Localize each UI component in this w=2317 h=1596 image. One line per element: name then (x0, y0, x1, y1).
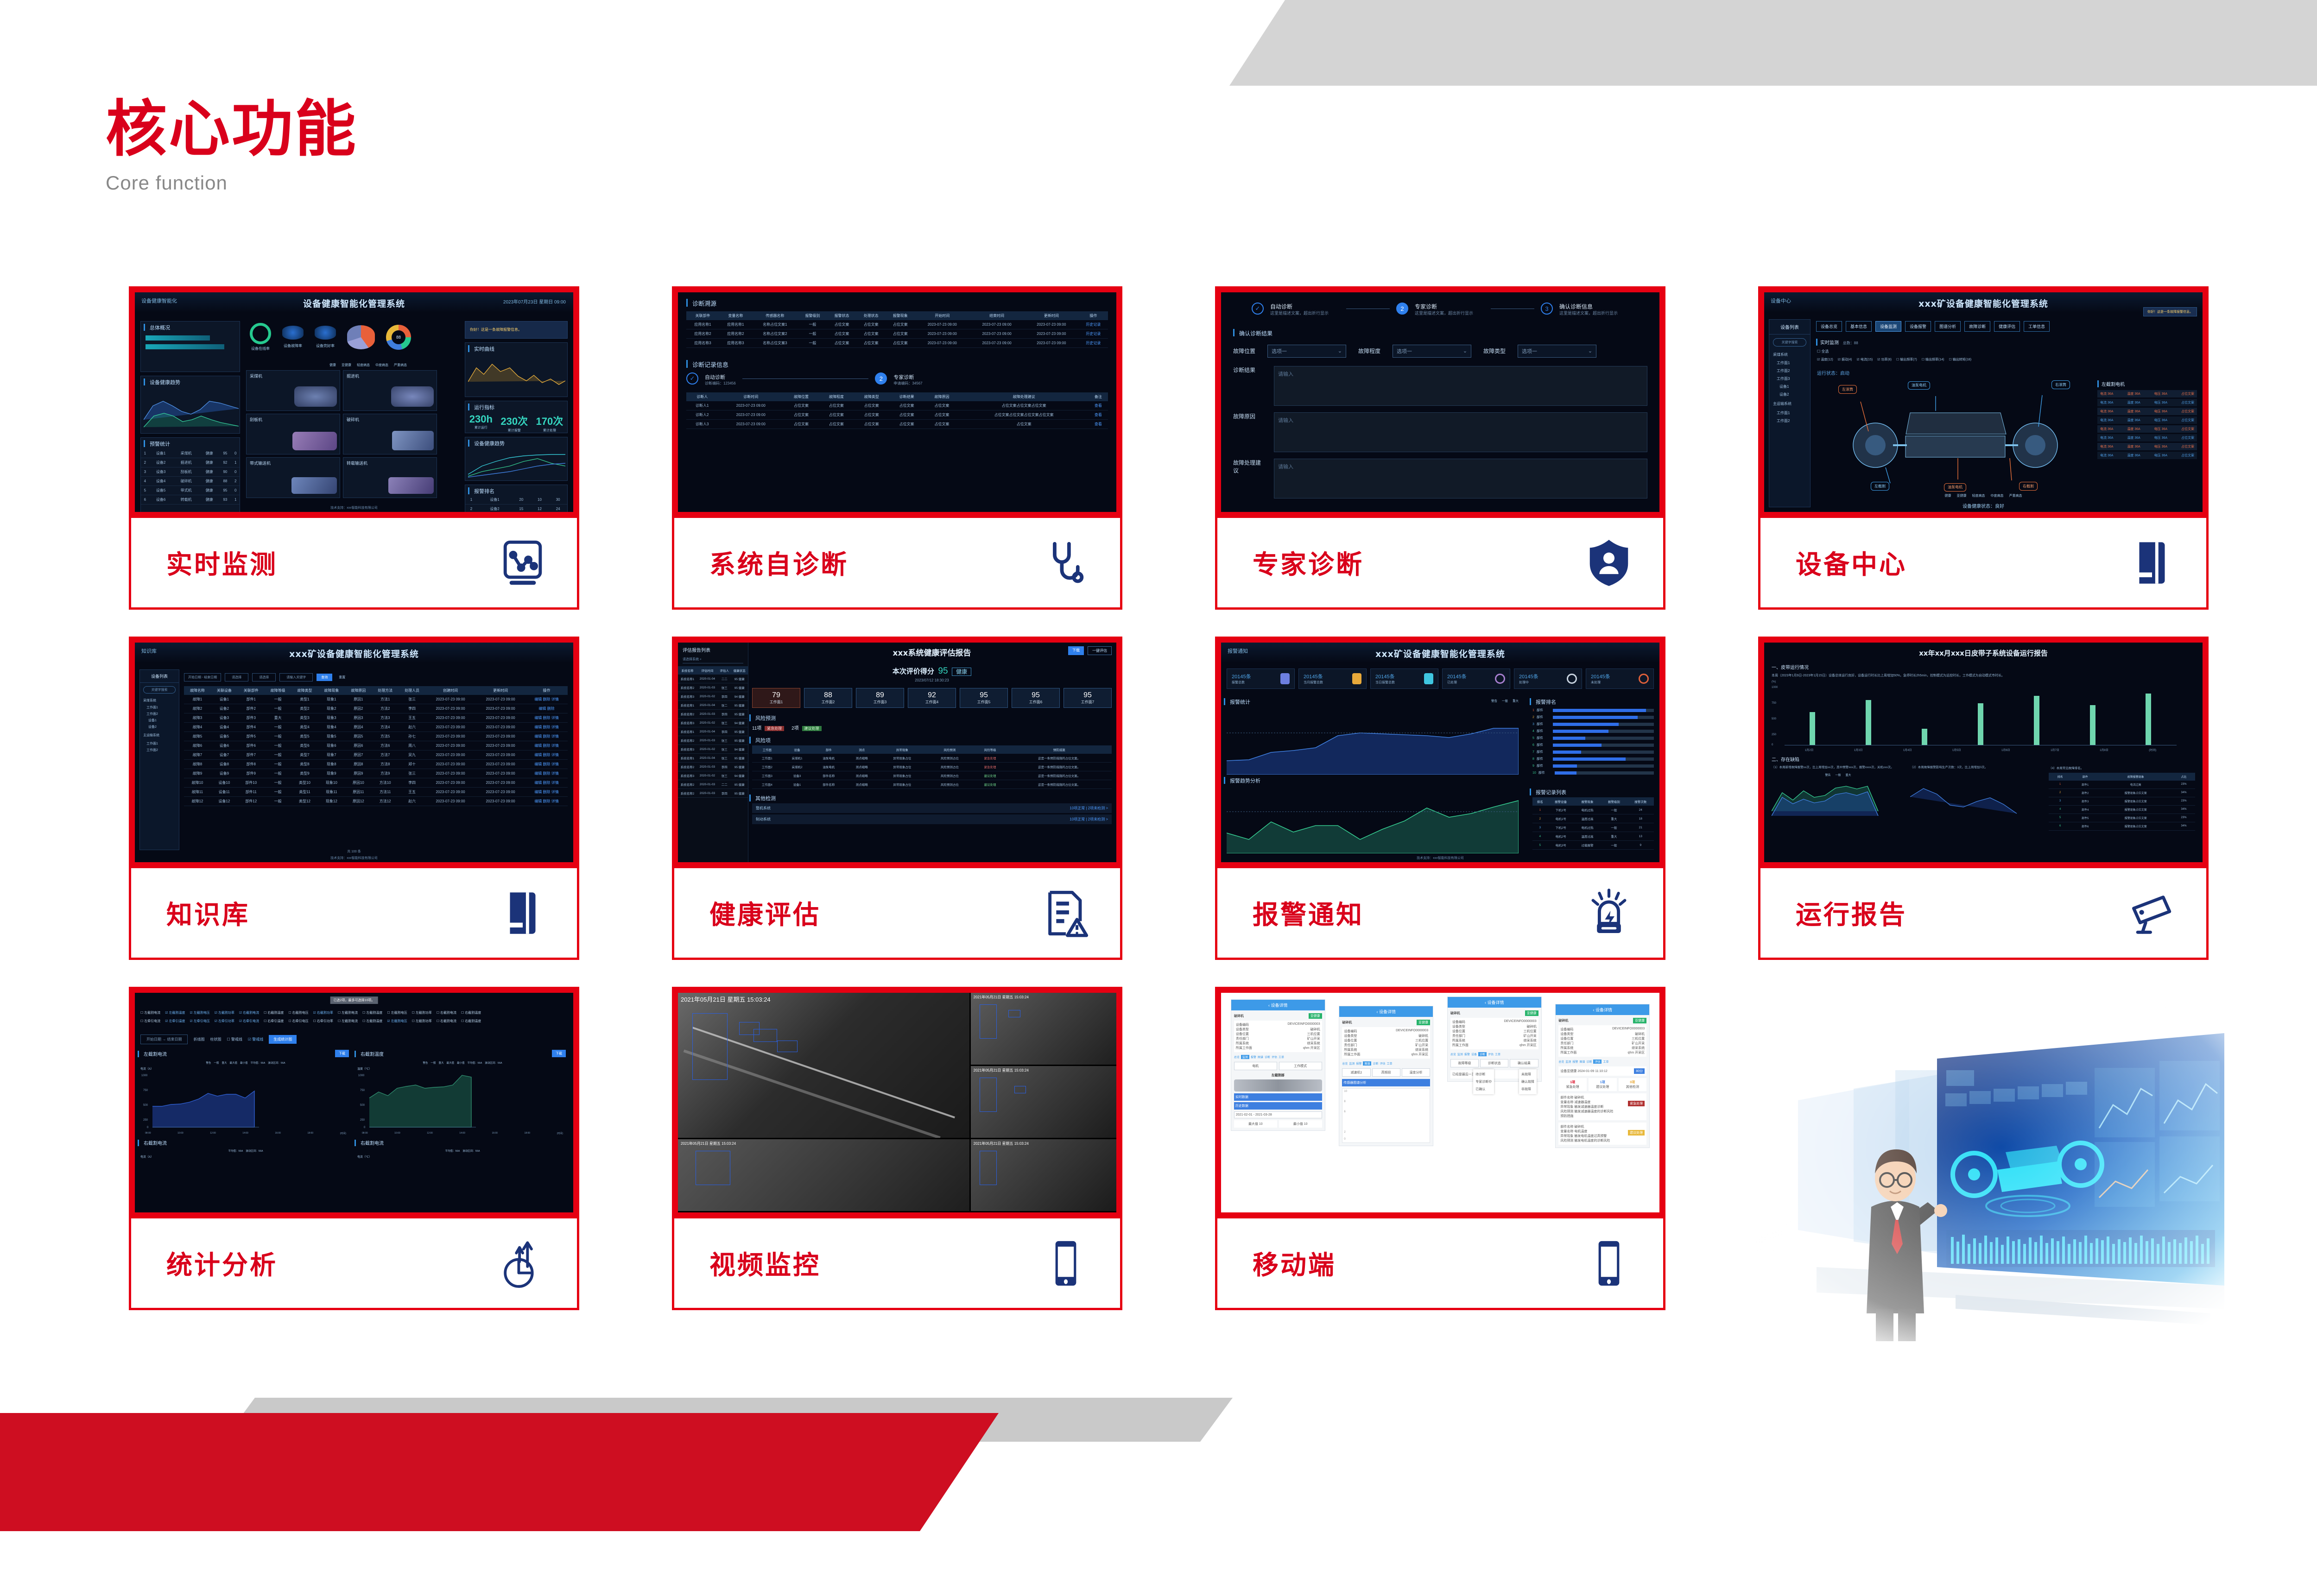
col-header: 报警状态 (827, 311, 856, 320)
view-link[interactable]: 查看 (1089, 401, 1108, 410)
list-item[interactable]: 系统名称22020-01-03张三95 健康 (678, 736, 748, 745)
view-link[interactable]: 查看 (1089, 410, 1108, 420)
table-row[interactable]: 诊断人3 2023-07-23 09:00 占位文案 占位文案 占位文案 占位文… (686, 420, 1108, 429)
metric-checkbox[interactable]: ☐ 右截割电压 (288, 1010, 308, 1015)
checkbox-label: 左牵引电压 (194, 1020, 210, 1023)
fault-type-select[interactable]: 选项一 ⌄ (1518, 345, 1596, 358)
field-value: 矿山开采 (1307, 1036, 1320, 1041)
history-link[interactable]: 历史记录 (1079, 329, 1108, 339)
field-value: 破碎机 (1418, 1034, 1428, 1038)
fault-cause-textarea[interactable]: 请输入 (1274, 412, 1647, 452)
field-value: 破碎机 (1635, 1032, 1645, 1036)
card-label-equipment-center[interactable]: 设备中心 (1758, 518, 2209, 610)
table-row[interactable]: 故障5设备5部件5一般类型5现象5原因5方法5孙七2023-07-23 09:0… (184, 732, 568, 741)
metric-checkbox[interactable]: ☐ 左截割功率 (412, 1019, 432, 1023)
checkbox-label: 左截割电流 (342, 1011, 358, 1015)
card-label-expert-diagnosis[interactable]: 专家诊断 (1215, 518, 1665, 610)
download-button[interactable]: 下载 (335, 1050, 349, 1057)
metric-checkbox[interactable]: ☑ 左截割电压 (190, 1010, 209, 1015)
placeholder-text: 请输入 (1278, 418, 1293, 423)
generate-chart-button[interactable]: 生成统计图 (269, 1035, 297, 1044)
phone-tab[interactable]: 诊断 (1586, 1060, 1592, 1064)
metric-checkbox[interactable]: ☐ 左截割功率 (412, 1010, 432, 1015)
table-row[interactable]: 诊断人1 2023-07-23 09:00 占位文案 占位文案 占位文案 占位文… (686, 401, 1108, 410)
table-row[interactable]: 故障2设备2部件2一般类型2现象2原因2方法2李四2023-07-23 09:0… (184, 704, 568, 713)
warn-line-checkbox-off[interactable]: ☐ 警戒线 (227, 1037, 242, 1042)
one-click-assess-button[interactable]: 一键评估 (1088, 646, 1112, 655)
video-cell-5[interactable]: 2021年05月21日 星期五 15:03:24 (971, 1139, 1116, 1211)
table-row[interactable]: 故障10设备10部件10一般类型10现象10原因10方法10李四2023-07-… (184, 778, 568, 788)
table-row[interactable]: 故障6设备6部件6一般类型6现象6原因6方法6周八2023-07-23 09:0… (184, 741, 568, 751)
tab-basic-info[interactable]: 基本信息 (1846, 321, 1872, 332)
menu-item[interactable]: 未故障 (1521, 1071, 1534, 1078)
chart-title: 右截割温度 (355, 1051, 568, 1057)
feature-card-mobile-terminal[interactable]: ‹ 设备详情 破碎机 亚健康 设备编码DEVICEINFO0000003 设备类… (1215, 987, 1665, 1324)
list-item[interactable]: 系统名称32020-01-02张三94 健康 (678, 745, 748, 754)
search-input[interactable]: 请选择系统 ⌕ (683, 657, 743, 663)
col-header: 备注 (1089, 392, 1108, 401)
band-select[interactable]: 高频段 (1372, 1068, 1400, 1077)
table-row[interactable]: 工作面1采煤机1油泵电机测点缩略异常现象占位风险预测占位紧急处理这是一条预防措施… (752, 754, 1112, 763)
score-value: 95 (960, 691, 1007, 700)
cell: 占位文案 (886, 339, 915, 348)
field-label: 设备类型 (1560, 1032, 1573, 1036)
feature-card-realtime-monitor[interactable]: 设备健康智能化 2023年07月23日 星期日 09:00 设备健康智能化管理系… (129, 286, 579, 624)
table-row[interactable]: 应用名称1 应用名称1 名称占位文案1 一般 占位文案 占位文案 占位文案 20… (686, 320, 1108, 329)
checkbox-label: 左截割温度 (366, 1020, 382, 1023)
list-item[interactable]: 系统名称22020-01-03李四95 健康 (678, 763, 748, 771)
pagination[interactable]: 共 100 条 (135, 849, 573, 854)
chart-type-bar[interactable]: 柱状图 (210, 1037, 221, 1042)
metric-checkbox[interactable]: ☐ 左截割温度 (362, 1010, 382, 1015)
cell: 占位文案占位文案占位文案 (959, 401, 1088, 410)
field-value: 矿山开采 (1415, 1043, 1428, 1047)
x-tick: 1月5日 (1952, 748, 1961, 752)
field-label: 设备编码 (1344, 1029, 1357, 1034)
tree-item[interactable]: 工作面1 (1769, 409, 1810, 417)
table-row[interactable]: 1部件1电流过高23% (2049, 781, 2195, 789)
metric-temperature: 温度 36A (2127, 453, 2140, 458)
cell: 诊断人1 (686, 401, 718, 410)
device-name: 破碎机 (1450, 1011, 1460, 1016)
filter-checkbox[interactable]: ☑ 温度(12) (1817, 357, 1833, 362)
card-label-health-assessment[interactable]: 健康评估 (672, 868, 1122, 960)
checkbox-label: 右截割电流 (440, 1011, 456, 1015)
tab-graph-analysis[interactable]: 图谱分析 (1935, 321, 1961, 332)
table-row[interactable]: 3部件3报警现象占位文案23% (2049, 797, 2195, 805)
select-all-checkbox[interactable]: ☐ 全选 (1817, 349, 1829, 354)
feature-card-system-self-diagnosis[interactable]: 诊断溯源 关联部件 变量名称 传感器名称 报警级别 报警状态 处理状态 报警现象… (672, 286, 1122, 624)
tree-item[interactable]: 工作面1 (1769, 359, 1810, 367)
mobile-screen-graph[interactable]: ‹ 设备详情 破碎机 亚健康 设备编码DEVICEINFO0000003 设备类… (1339, 1006, 1433, 1146)
reset-button[interactable]: 重置 (336, 674, 348, 681)
equipment-name: 破碎机 (343, 414, 437, 423)
cell: 占位文案 (856, 320, 886, 329)
metric-checkbox[interactable]: ☑ 左牵引电压 (190, 1019, 209, 1023)
table-row[interactable]: 故障1设备1部件1一般类型1现象1原因1方法1张三2023-07-23 09:0… (184, 695, 568, 704)
select-filter-1[interactable]: 请选择 (225, 673, 248, 681)
risk-tag: 紧急处理 (765, 726, 784, 731)
cell: 占位文案 (856, 339, 886, 348)
phone-tab[interactable]: 诊断 (1265, 1055, 1270, 1059)
phone-tab[interactable]: 报警 (1464, 1052, 1470, 1056)
metric-checkbox[interactable]: ☐ 左截割电流 (140, 1010, 160, 1015)
metric-current: 电流 36A (2100, 400, 2113, 405)
feature-card-knowledge-base[interactable]: 知识库 xxx矿设备健康智能化管理系统 设备列表 关键字搜索 采煤系统 工作面1… (129, 637, 579, 974)
view-link[interactable]: 查看 (1089, 420, 1108, 429)
stat-label: 已处理 (1447, 680, 1467, 685)
menu-item[interactable]: 待诊断 (1475, 1071, 1492, 1078)
table-row[interactable]: 工作面4设备1部件名称测点缩略异常现象占位风险预测占位建议处理这是一条预防措施的… (752, 780, 1112, 789)
metric-checkbox[interactable]: ☐ 左牵引电流 (140, 1019, 160, 1023)
fault-location-select[interactable]: 选项一 ⌄ (1267, 345, 1346, 358)
phone-tab-active[interactable]: 图谱 (1363, 1061, 1371, 1066)
table-row[interactable]: 故障12设备12部件12一般类型12现象12原因12方法12赵六2023-07-… (184, 797, 568, 806)
filter-checkbox[interactable]: ☐ 输出频率(14) (1922, 357, 1944, 362)
checkbox-label: 右截割电流 (243, 1011, 259, 1015)
cell: 部件6 (2071, 822, 2099, 830)
phone-tab[interactable]: 评估 (1488, 1052, 1494, 1056)
mode-select[interactable]: 工作模式 (1279, 1062, 1322, 1070)
metric-checkbox[interactable]: ☐ 右截割电流 (437, 1019, 456, 1023)
x-axis-label: (时间) (557, 1132, 563, 1135)
table-row[interactable]: 故障3设备3部件3重大类型3现象3原因3方法3王五2023-07-23 09:0… (184, 713, 568, 723)
table-row[interactable]: 2电机1号温度过高重大18 (1532, 814, 1654, 823)
table-row[interactable]: 5电机3号过载报警一般9 (1532, 841, 1654, 850)
chart-avg: 平均值：56A (250, 1061, 265, 1065)
metric-checkbox[interactable]: ☐ 右牵引功率 (313, 1019, 333, 1023)
tree-item[interactable]: 工作面2 (1769, 417, 1810, 425)
history-link[interactable]: 历史记录 (1079, 320, 1108, 329)
phone-tab[interactable]: 总览 (1450, 1052, 1456, 1056)
tree-item[interactable]: 采煤系统 (1769, 350, 1810, 359)
select-filter-2[interactable]: 请选择 (252, 673, 276, 681)
score-name: 工作面5 (960, 700, 1007, 705)
legend-item: 警告 (206, 1061, 211, 1065)
table-row[interactable]: 故障11设备11部件11一般类型11现象11原因11方法11王五2023-07-… (184, 788, 568, 797)
metric-checkbox[interactable]: ☑ 右牵引电流 (239, 1019, 259, 1023)
phone-tab[interactable]: 总览 (1558, 1060, 1564, 1064)
feature-card-expert-diagnosis[interactable]: ✓ 自动诊断 这里是描述文案，超出折行显示 2 专家诊断 这里是描述文案，超出折… (1215, 286, 1665, 624)
table-row[interactable]: 1下机1号电机过热一般24 (1532, 806, 1654, 814)
bar (1922, 729, 1927, 744)
table-row[interactable]: 应用名称3 应用名称3 名称占位文案3 一般 占位文案 占位文案 占位文案 20… (686, 339, 1108, 348)
checkbox-label: 右截割温度 (465, 1011, 481, 1015)
keyword-input[interactable]: 请输入关键字 (279, 673, 313, 681)
filter-checkbox[interactable]: ☐ 输出频率(7) (1896, 357, 1917, 362)
legend-item: 重大 (222, 1061, 227, 1065)
screenshot-realtime-monitor: 设备健康智能化 2023年07月23日 星期日 09:00 设备健康智能化管理系… (129, 286, 579, 518)
metric-checkbox[interactable]: ☐ 右牵引电压 (288, 1019, 308, 1023)
cell: 占位文案 (889, 410, 924, 420)
filter-checkbox[interactable]: ☑ 功率(8) (1877, 357, 1892, 362)
feature-card-operation-report[interactable]: xx年xx月xxx日皮带子系统设备运行报告 一、皮带运行情况 本周（2023年1… (1758, 637, 2209, 974)
metric-checkbox[interactable]: ☐ 右截割温度 (461, 1010, 481, 1015)
detail-tag: 紧急处理 (1628, 1101, 1645, 1106)
card-label-mobile-terminal[interactable]: 移动端 (1215, 1218, 1665, 1310)
y-tick: 10 (1344, 1090, 1347, 1093)
phone-tab[interactable]: 监测 (1565, 1060, 1571, 1064)
tree-item[interactable]: 主运输系统 (1769, 398, 1810, 409)
legend-item: 最小值 (240, 1061, 248, 1065)
step-desc: 这里是描述文案，超出折行显示 (1270, 310, 1340, 317)
card-label-statistical-analysis[interactable]: 统计分析 (129, 1218, 579, 1310)
col-header: 风险预测 (926, 745, 974, 754)
diagnosis-status-select[interactable]: 诊断状态 (1480, 1059, 1508, 1067)
table-row[interactable]: 6部件6报警现象占位文案34% (2049, 822, 2195, 830)
legend-item: 轻度病态 (1972, 493, 1985, 498)
equipment-name: 转载输送机 (343, 458, 437, 466)
feature-card-equipment-center[interactable]: 设备中心 xxx矿设备健康智能化管理系统 你好！这是一条故障报警信息。 设备列表… (1758, 286, 2209, 624)
diagnosis-result-textarea[interactable]: 请输入 (1274, 366, 1647, 406)
table-row[interactable]: 故障4设备4部件4一般类型4现象4原因4方法4赵六2023-07-23 09:0… (184, 723, 568, 732)
metric-checkbox[interactable]: ☐ 左截割电流 (338, 1010, 358, 1015)
phone-tab[interactable]: 设备 (1471, 1052, 1477, 1056)
download-button[interactable]: 下载 (1068, 646, 1084, 655)
phone-tab-active[interactable]: 评估 (1593, 1060, 1602, 1064)
field-label: 变量名称 (1560, 1130, 1573, 1133)
table-row[interactable]: 诊断人2 2023-07-23 09:00 占位文案 占位文案 占位文案 占位文… (686, 410, 1108, 420)
table-row[interactable]: 故障7设备7部件7一般类型7现象7原因7方法7吴九2023-07-23 09:0… (184, 751, 568, 760)
table-row[interactable]: 工作面2采煤机2油泵电机测点缩略异常现象占位风险预测占位紧急处理这是一条预防措施… (752, 763, 1112, 771)
cell: 占位文案 (854, 420, 889, 429)
date-range-filter[interactable]: 开始日期 - 结束日期 (184, 673, 221, 681)
card-label-knowledge-base[interactable]: 知识库 (129, 868, 579, 960)
tab-health-assessment[interactable]: 健康评估 (1994, 321, 2020, 332)
tab-equipment-overview[interactable]: 设备总览 (1816, 321, 1842, 332)
menu-item[interactable]: 专家诊断中 (1475, 1078, 1492, 1085)
list-item[interactable]: 系统名称32020-01-02李四94 健康 (678, 692, 748, 701)
pie-chart-arrow-icon (497, 1238, 548, 1289)
filter-checkbox[interactable]: ☑ 振动(4) (1838, 357, 1852, 362)
menu-item[interactable]: 确认故障 (1521, 1078, 1534, 1085)
list-item[interactable]: 系统名称22020-01-03张三95 健康 (678, 683, 748, 692)
tab-work-order[interactable]: 工单信息 (2024, 321, 2050, 332)
list-item[interactable]: 系统名称22020-01-03二二95 健康 (678, 780, 748, 789)
mobile-screen-monitor[interactable]: ‹ 设备详情 破碎机 亚健康 设备编码DEVICEINFO0000003 设备类… (1231, 999, 1325, 1131)
phone-tab[interactable]: 报警 (1251, 1055, 1256, 1059)
filter-checkbox[interactable]: ☐ 输出转矩(18) (1949, 357, 1971, 362)
search-input[interactable]: 关键字搜索 (143, 686, 176, 694)
col-header: 处理状态 (856, 311, 886, 320)
col-header: 变量名称 (719, 311, 752, 320)
book-icon (2127, 537, 2178, 588)
feature-card-video-surveillance[interactable]: 2021年05月21日 星期五 15:03:24 2021年05月21日 星期五… (672, 987, 1122, 1324)
table-row[interactable]: 4电机2号温度过高重大13 (1532, 832, 1654, 841)
phone-tab[interactable]: 总览 (1234, 1055, 1240, 1059)
metric-checkbox[interactable]: ☑ 右截割功率 (313, 1010, 333, 1015)
mobile-screen-assessment[interactable]: ‹ 设备详情 破碎机 亚健康 设备编码DEVICEINFO0000003 设备类… (1555, 1004, 1650, 1148)
realtime-data-button[interactable]: 实时数据 (1234, 1093, 1322, 1101)
phone-tab[interactable]: 工单 (1279, 1055, 1284, 1059)
table-row[interactable]: 故障8设备8部件8一般类型8现象8原因8方法8郑十2023-07-23 09:0… (184, 760, 568, 769)
list-item[interactable]: 系统名称12020-01-04二二95 健康 (678, 675, 748, 683)
metric-checkbox[interactable]: ☑ 左截割功率 (215, 1010, 234, 1015)
y-tick: 8 (1344, 1100, 1345, 1103)
tree-item[interactable]: 工作面2 (1769, 367, 1810, 375)
table-row[interactable]: 5部件5报警现象占位文案23% (2049, 814, 2195, 822)
col-header: 处理方法 (372, 686, 399, 695)
phone-tab[interactable]: 图谱 (1258, 1055, 1263, 1059)
analysis-select[interactable]: 温变分析 (1402, 1068, 1430, 1077)
cell: 2023-07-23 09:00 (915, 320, 969, 329)
step-label: 专家诊断 (893, 373, 922, 381)
date-range-input[interactable]: 开始日期 → 结束日期 (140, 1035, 188, 1044)
col-header: 故障位置 (784, 392, 819, 401)
feature-card-statistical-analysis[interactable]: 已选2项，最多可选择10项。 ☐ 左截割电流 ☑ 左截割温度 ☑ 左截割电压 ☑… (129, 987, 579, 1324)
list-item[interactable]: 系统名称12020-01-04张二95 健康 (678, 701, 748, 710)
monitor-chart-icon (497, 537, 548, 588)
metric-voltage: 电压 36A (2154, 453, 2167, 458)
tab-equipment-alarm[interactable]: 设备报警 (1905, 321, 1931, 332)
cell: 占位文案占位文案占位文案占位文案 (959, 410, 1088, 420)
phone-tab[interactable]: 报警 (1572, 1060, 1578, 1064)
metric-checkbox[interactable]: ☐ 左截割电压 (387, 1010, 407, 1015)
table-row[interactable]: 应用名称2 应用名称2 名称占位文案2 一般 占位文案 占位文案 占位文案 20… (686, 329, 1108, 339)
date-range-input[interactable]: 2021-02-01 - 2021-03-28 (1234, 1111, 1322, 1118)
metric-checkbox[interactable]: ☑ 左截割电压 (387, 1019, 407, 1023)
tree-item[interactable]: 设备2 (1769, 391, 1810, 398)
download-button[interactable]: 下载 (552, 1050, 566, 1057)
card-label-system-self-diagnosis[interactable]: 系统自诊断 (672, 518, 1122, 610)
metric-checkbox[interactable]: ☐ 左截割电流 (338, 1019, 358, 1023)
chart-type-line[interactable]: 折线图 (193, 1037, 204, 1042)
card-label-operation-report[interactable]: 运行报告 (1758, 868, 2209, 960)
search-input[interactable]: 关键字搜索 (1773, 338, 1806, 347)
field-value: 综采系统 (1307, 1041, 1320, 1046)
phone-tab[interactable]: 工单 (1495, 1052, 1500, 1056)
fault-advice-textarea[interactable]: 请输入 (1274, 459, 1647, 498)
cell: 占位文案 (924, 401, 960, 410)
feature-card-health-assessment[interactable]: 评估报告列表 请选择系统 ⌕ 系统名称 评估时间 评估人 健康状态 系统名称12… (672, 637, 1122, 974)
svg-text:750: 750 (143, 1089, 148, 1092)
video-cell-main[interactable]: 2021年05月21日 星期五 15:03:24 (678, 993, 969, 1138)
phone-tab-active[interactable]: 诊断 (1478, 1052, 1487, 1056)
confirm-result-select[interactable]: 确认结果 (1510, 1059, 1538, 1067)
table-row[interactable]: 故障9设备9部件9一般类型9现象9原因9方法9张三2023-07-23 09:0… (184, 769, 568, 778)
history-link[interactable]: 历史记录 (1079, 339, 1108, 348)
page-header: 核心功能 Core function (106, 97, 358, 194)
phone-tab[interactable]: 评估 (1380, 1061, 1385, 1066)
metric-checkbox[interactable]: ☑ 左截割温度 (165, 1010, 185, 1015)
checkbox-label: 左牵引温度 (169, 1020, 185, 1023)
warn-line-checkbox-on[interactable]: ☑ 警戒线 (248, 1037, 263, 1042)
phone-tab-active[interactable]: 监测 (1241, 1055, 1249, 1059)
phone-tab[interactable]: 报警 (1356, 1061, 1361, 1066)
filter-checkbox[interactable]: ☑ 电流(15) (1856, 357, 1873, 362)
phone-tab[interactable]: 工单 (1386, 1061, 1392, 1066)
metric-checkbox[interactable]: ☐ 右截割温度 (461, 1019, 481, 1023)
gearbox-select[interactable]: 减速机1 (1342, 1068, 1370, 1077)
list-item[interactable]: 系统名称32020-01-02张三94 健康 (678, 719, 748, 727)
video-cell-2[interactable]: 2021年05月21日 星期五 15:03:24 (971, 993, 1116, 1065)
table-row[interactable]: 工作面3设备3部件名称测点缩略异常现象占位风险预测占位建议处理这是一条预防措施的… (752, 771, 1112, 780)
list-item[interactable]: 系统名称22020-01-03李四95 健康 (678, 710, 748, 719)
metric-checkbox[interactable]: ☐ 左截割温度 (362, 1019, 382, 1023)
cell: 名称占位文案1 (752, 320, 798, 329)
table-row[interactable]: 2部件2报警现象占位文案34% (2049, 789, 2195, 797)
cell: 应用名称3 (686, 339, 719, 348)
field-value: 三机位置 (1632, 1036, 1645, 1041)
metric-checkbox[interactable]: ☐ 右截割电流 (437, 1010, 456, 1015)
cell: 应用名称2 (686, 329, 719, 339)
x-tick: 18:00 (525, 1132, 531, 1135)
checkbox-label: 左截割电流 (144, 1011, 160, 1015)
tree-item[interactable]: 工作面3 (1769, 375, 1810, 383)
field-label: 预防措施 (1560, 1115, 1573, 1118)
phone-tab[interactable]: 评估 (1272, 1055, 1277, 1059)
phone-tab[interactable]: 工单 (1603, 1060, 1608, 1064)
fault-severity-select[interactable]: 选项一 ⌄ (1393, 345, 1471, 358)
card-label-realtime-monitor[interactable]: 实时监测 (129, 518, 579, 610)
metric-checkbox[interactable]: ☑ 左牵引功率 (215, 1019, 234, 1023)
metric-checkbox[interactable]: ☐ 右截割温度 (264, 1010, 284, 1015)
tab-fault-diagnosis[interactable]: 故障诊断 (1964, 321, 1990, 332)
menu-item[interactable]: 已确认 (1475, 1085, 1492, 1093)
history-data-button[interactable]: 历史数据 (1234, 1102, 1322, 1110)
list-item[interactable]: 系统名称12020-01-04李四95 健康 (678, 727, 748, 736)
metric-checkbox[interactable]: ☑ 右截割电流 (239, 1010, 259, 1015)
phone-tab[interactable]: 诊断 (1373, 1061, 1378, 1066)
feature-card-alarm-notification[interactable]: 报警通知 xxx矿设备健康智能化管理系统 20145条 报警总数 20145条 … (1215, 637, 1665, 974)
mobile-screen-diagnosis[interactable]: ‹ 设备详情 破碎机 亚健康 设备编码DEVICEINFO0000003 设备类… (1447, 997, 1542, 1082)
cctv-camera-icon (2127, 888, 2178, 939)
list-item[interactable]: 整机系统10项正常 | 2项未检测 > (752, 803, 1112, 813)
checkbox-label: 输出转矩(18) (1953, 358, 1971, 361)
metric-checkbox[interactable]: ☐ 右牵引温度 (264, 1019, 284, 1023)
motor-select[interactable]: 电机 (1234, 1062, 1277, 1070)
col-header: 故障处理建议 (959, 392, 1088, 401)
video-cell-4[interactable]: 2021年05月21日 星期五 15:03:24 (678, 1139, 969, 1211)
legend-item: 警告 (1491, 698, 1497, 703)
cell: 应用名称2 (719, 329, 752, 339)
tab-equipment-monitor[interactable]: 设备监测 (1875, 321, 1901, 332)
legend-item: 最大值 (446, 1061, 454, 1065)
col-header: 故障名称 (184, 686, 211, 695)
card-label-alarm-notification[interactable]: 报警通知 (1215, 868, 1665, 960)
list-item[interactable]: 系统名称32020-01-02张三94 健康 (678, 771, 748, 780)
metric-checkbox[interactable]: ☑ 左牵引温度 (165, 1019, 185, 1023)
search-button[interactable]: 查询 (317, 674, 332, 681)
phone-tab[interactable]: 图谱 (1579, 1060, 1585, 1064)
table-row[interactable]: 4部件4报警现象占位文案34% (2049, 805, 2195, 814)
chart-title: 报警统计 (1224, 698, 1523, 705)
cell: 2023-07-23 09:00 (1024, 320, 1079, 329)
x-tick: 08:00 (145, 1132, 151, 1135)
fault-level-select[interactable]: 故障等级 (1450, 1059, 1479, 1067)
card-label-video-surveillance[interactable]: 视频监控 (672, 1218, 1122, 1310)
metric-temperature: 温度 36A (2127, 400, 2140, 405)
metric-extra: 占位文案 (2181, 400, 2194, 405)
video-cell-3[interactable]: 2021年05月21日 星期五 15:03:24 (971, 1066, 1116, 1138)
phone-tab[interactable]: 监测 (1349, 1061, 1355, 1066)
table-row[interactable]: 3下机2号电机过热一般21 (1532, 823, 1654, 832)
list-item[interactable]: 制动系统10项正常 | 2项未检测 > (752, 814, 1112, 824)
list-item[interactable]: 系统名称12020-01-04张三95 健康 (678, 754, 748, 763)
phone-tab[interactable]: 监测 (1457, 1052, 1463, 1056)
other-row-label: 制动系统 (756, 817, 771, 822)
menu-item[interactable]: 非故障 (1521, 1085, 1534, 1093)
checkbox-label: 左截割温度 (169, 1011, 185, 1015)
checkbox-label: 温度(12) (1821, 358, 1833, 361)
phone-tab[interactable]: 总览 (1342, 1061, 1348, 1066)
score-name: 工作面4 (908, 700, 956, 705)
tree-item[interactable]: 设备1 (1769, 383, 1810, 391)
list-item[interactable]: 系统名称22020-01-03李四95 健康 (678, 789, 748, 798)
field-label: 设备位置 (1560, 1036, 1573, 1041)
score-name: 工作面2 (804, 700, 852, 705)
field-value: 破碎机 (1310, 1027, 1320, 1032)
